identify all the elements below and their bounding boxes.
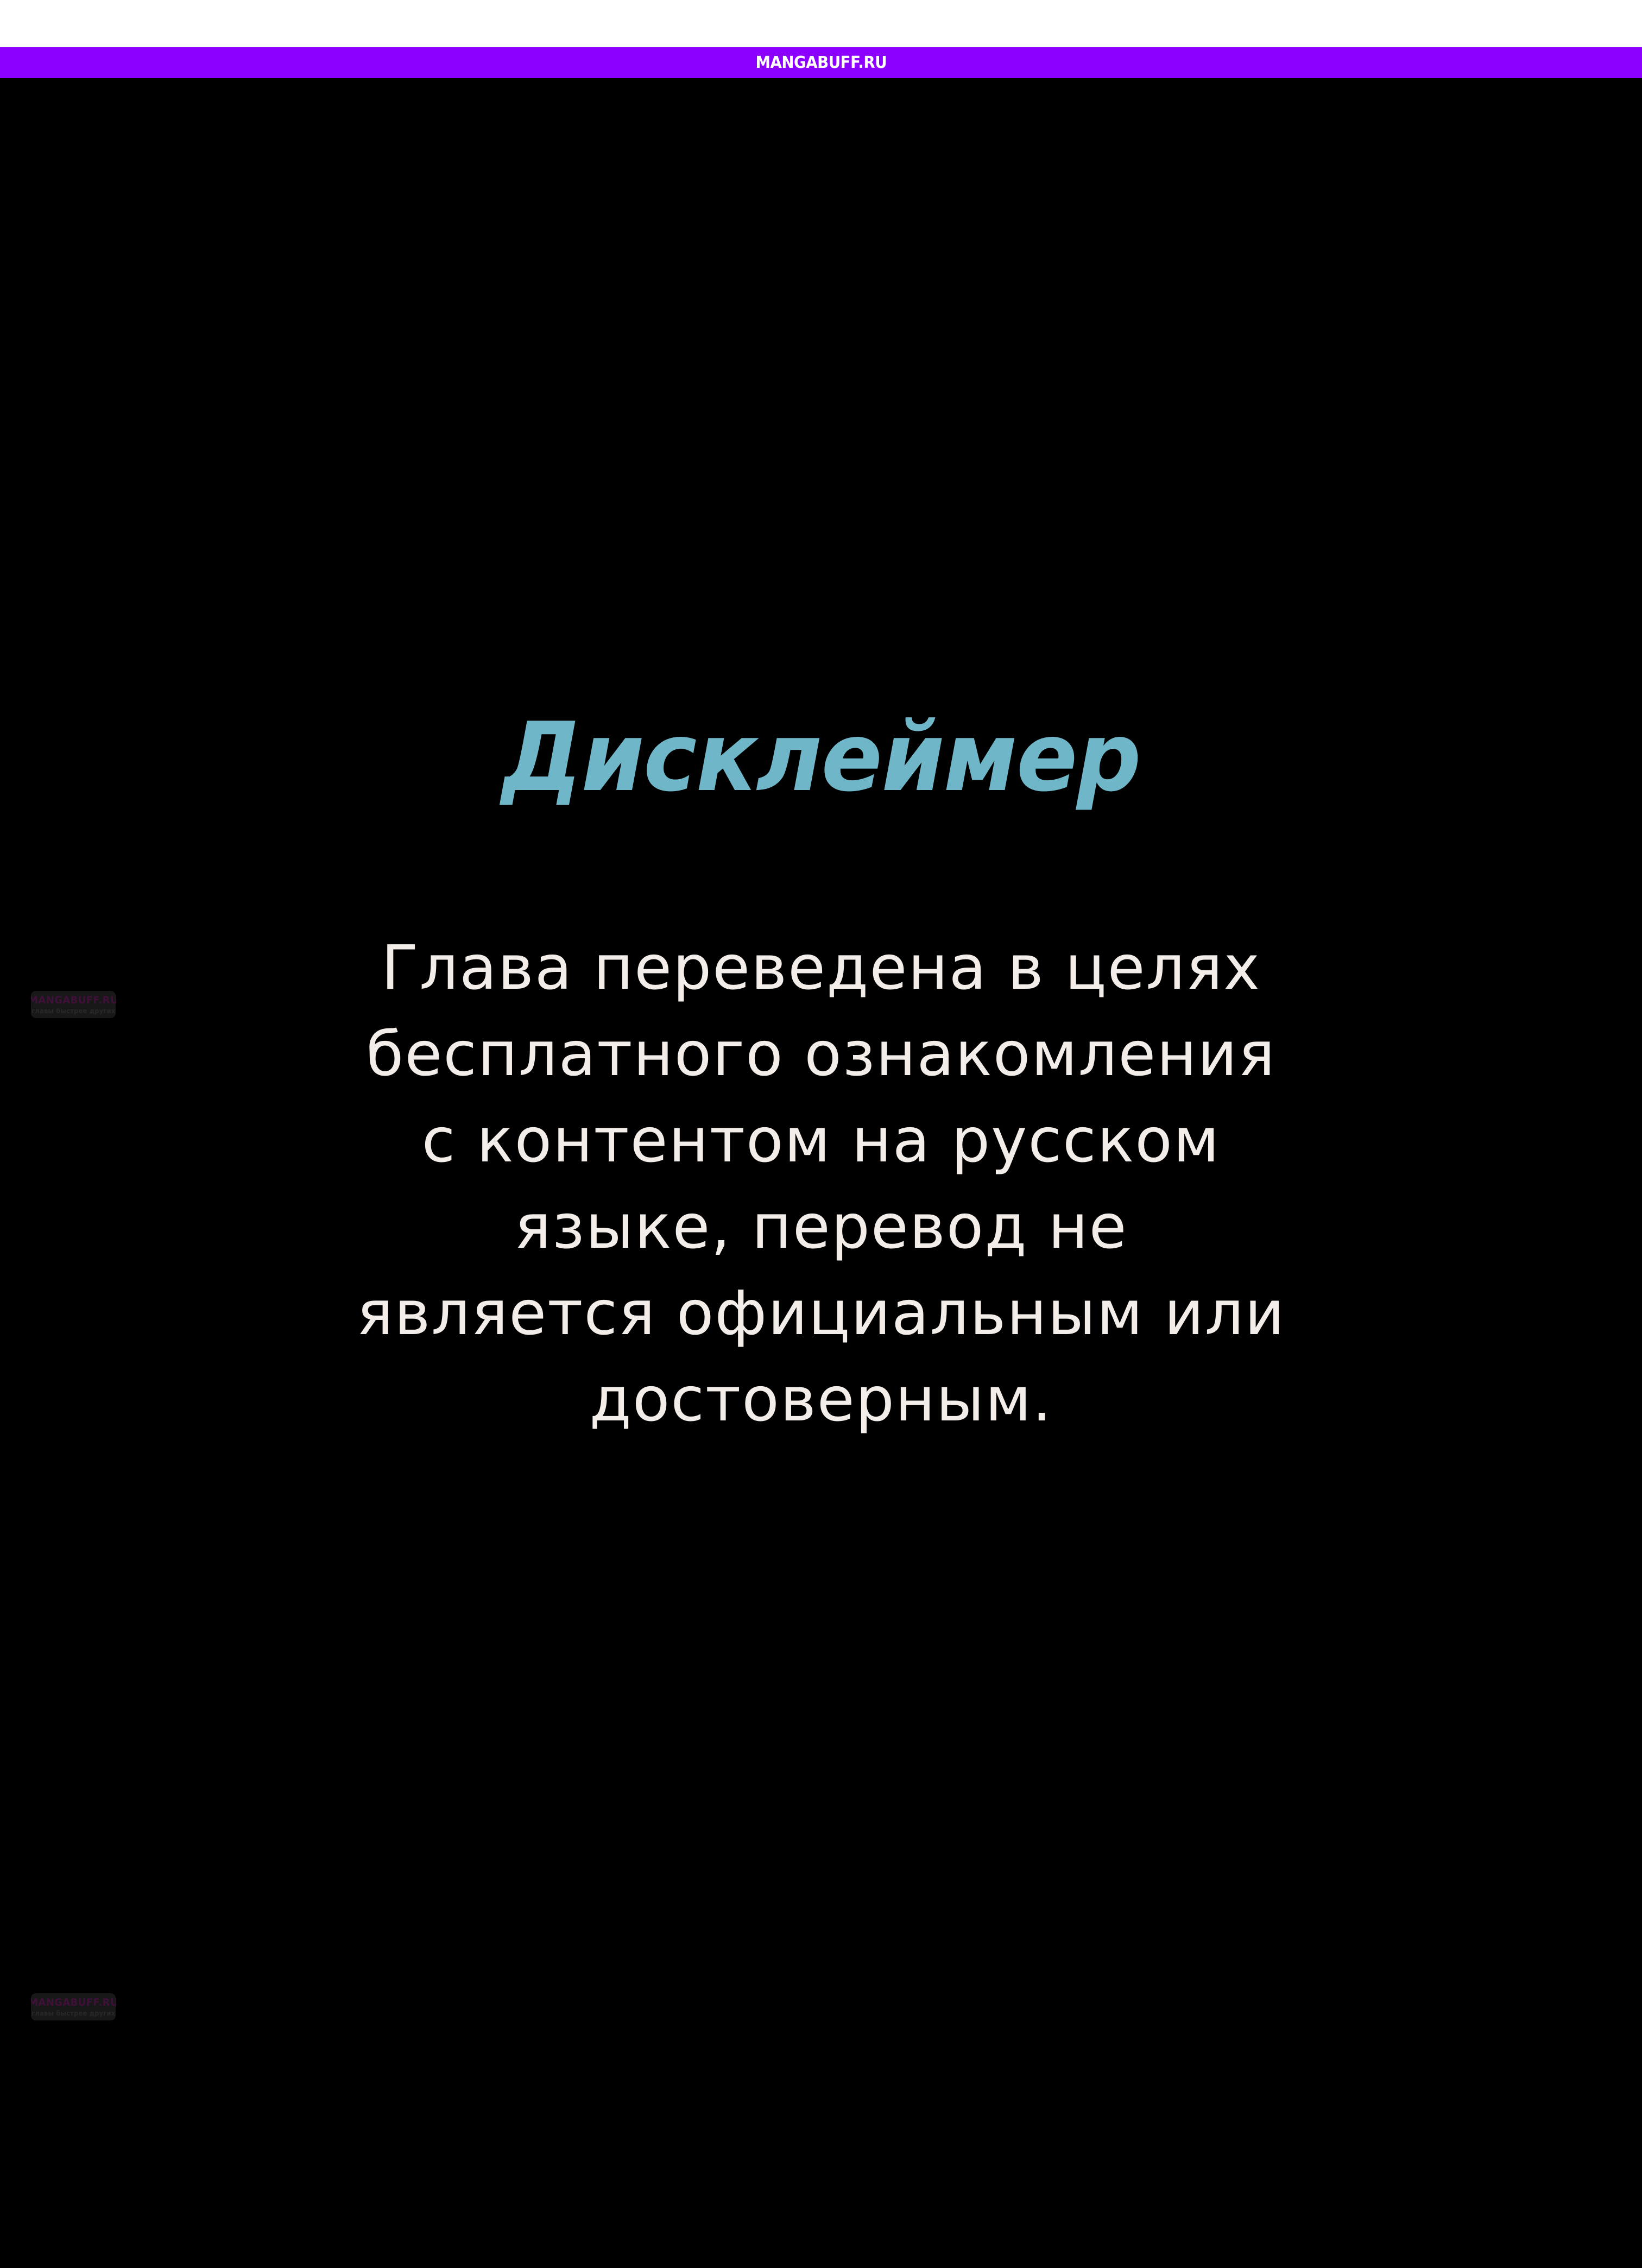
watermark-brand-label: MANGABUFF.RU bbox=[31, 1998, 116, 2008]
disclaimer-body-line: Глава переведена в целях bbox=[0, 925, 1642, 1012]
disclaimer-body-line: бесплатного ознакомления bbox=[0, 1012, 1642, 1098]
manga-reader-page: MANGABUFF.RU Дисклеймер Глава переведена… bbox=[0, 0, 1642, 2268]
disclaimer-body-line: языке, перевод не bbox=[0, 1184, 1642, 1271]
disclaimer-body-line: с контентом на русском bbox=[0, 1098, 1642, 1184]
disclaimer-body: Глава переведена в целях бесплатного озн… bbox=[0, 925, 1642, 1443]
site-banner: MANGABUFF.RU bbox=[0, 47, 1642, 78]
watermark-brand-label: MANGABUFF.RU bbox=[31, 995, 116, 1006]
disclaimer-title: Дисклеймер bbox=[41, 708, 1601, 808]
watermark-tagline-label: главы быстрее других bbox=[31, 1008, 115, 1014]
site-banner-label: MANGABUFF.RU bbox=[755, 55, 887, 71]
site-watermark-badge: MANGABUFF.RU главы быстрее других bbox=[31, 1993, 116, 2020]
site-watermark-badge: MANGABUFF.RU главы быстрее других bbox=[31, 991, 116, 1018]
disclaimer-body-line: является официальным или bbox=[0, 1271, 1642, 1357]
disclaimer-body-line: достоверным. bbox=[0, 1357, 1642, 1443]
comic-panel-image: Дисклеймер Глава переведена в целях бесп… bbox=[0, 78, 1642, 2268]
page-top-margin bbox=[0, 0, 1642, 47]
watermark-tagline-label: главы быстрее других bbox=[31, 2010, 115, 2017]
